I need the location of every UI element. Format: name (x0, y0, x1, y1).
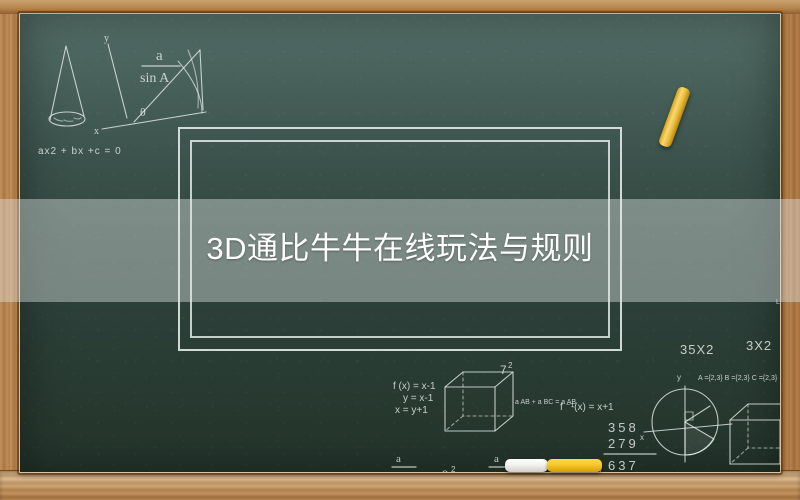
white-chalk-tray[interactable] (505, 459, 548, 472)
chalkboard-banner: a sin A y x θ ax2 + bx +c = 0 f (x) = x-… (0, 0, 800, 500)
chalk-tray (0, 470, 800, 500)
yellow-chalk-tray[interactable] (547, 459, 602, 472)
page-title: 3D通比牛牛在线玩法与规则 (0, 230, 800, 268)
frame-top-rail (0, 0, 800, 14)
